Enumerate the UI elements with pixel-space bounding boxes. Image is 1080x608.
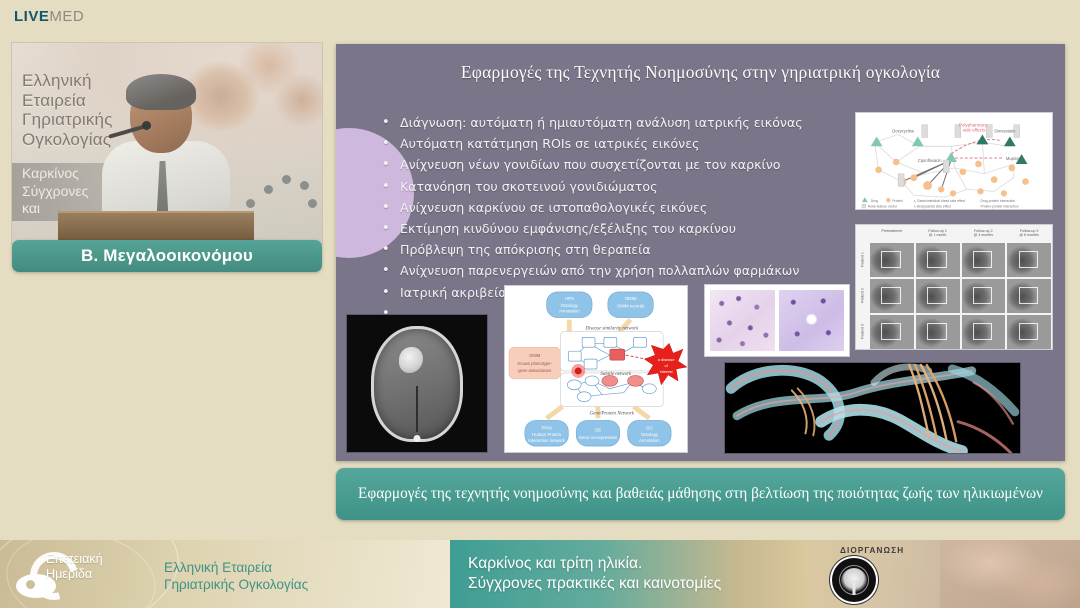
mri-marker-dot [414,435,421,442]
decorative-dots [242,169,318,217]
slide-title: Εφαρμογές της Τεχνητής Νοημοσύνης στην γ… [336,62,1065,83]
svg-text:PPIN: PPIN [542,425,552,430]
tractography-svg [725,363,1020,453]
histopathology-slide-a [710,290,775,351]
svg-text:r₁ Gastrointestinal bleed side: r₁ Gastrointestinal bleed side effect [914,199,965,203]
ct-scan-cell [1007,315,1051,349]
mri-midline-fissure [416,386,418,432]
ct-row-label-1: Patient 2 [856,278,869,314]
ct-scan-cell [962,279,1006,313]
list-item: Ανίχνευση παρενεργειών από την χρήση πολ… [374,260,874,281]
svg-text:Gene co-expression: Gene co-expression [579,435,618,440]
figure-histopathology [704,284,850,357]
figure-tractography [724,362,1021,454]
ct-scan-cell [870,243,914,277]
ct-scan-cell [870,279,914,313]
ct-row-label-2: Patient 3 [856,314,869,350]
screen: LIVEMED Ελληνική Εταιρεία Γηριατρικής Ογ… [0,0,1080,608]
svg-text:OMIM: OMIM [625,296,637,301]
figure-disease-gene-pipeline: HPOOntologyAnnotation OMIMOMIM records P… [504,285,688,453]
ct-col-3: Follow-up 3 @ 6 months [1006,225,1052,242]
ct-col-2: Follow-up 2 @ 3 months [961,225,1007,242]
histopathology-slide-b [779,290,844,351]
svg-text:Drug-protein interaction: Drug-protein interaction [980,199,1015,203]
histo-pair [705,285,849,356]
list-item: Ανίχνευση καρκίνου σε ιστοπαθολογικές ει… [374,197,874,218]
svg-text:Subtile network: Subtile network [600,372,632,377]
footer-hands-photo [940,540,1080,608]
figure-brain-mri [346,314,488,453]
svg-text:Ciprofloxacin: Ciprofloxacin [918,158,942,163]
svg-text:Disease similarity network: Disease similarity network [584,326,639,331]
logo-med-text: MED [49,8,84,25]
anniversary-text: Επετειακή Ημερίδα [46,552,103,583]
speaker-video-feed[interactable]: Ελληνική Εταιρεία Γηριατρικής Ογκολογίας… [12,43,322,244]
svg-text:Known phenotype-: Known phenotype- [518,361,553,366]
svg-text:Human Protein: Human Protein [532,432,561,437]
figure-drug-protein-network: Doxycycline Simvastatin Mupirocin Ciprof… [855,112,1053,210]
microphone-head [142,121,151,130]
svg-text:Protein: Protein [892,199,903,203]
ct-scan-cell [962,315,1006,349]
svg-text:Simvastatin: Simvastatin [994,129,1016,134]
speaker-name-text: Β. Μεγαλοοικονόμου [81,246,253,266]
mri-image [347,315,487,452]
list-item: Ανίχνευση νέων γονιδίων που συσχετίζοντα… [374,154,874,175]
speaker-name-banner: Β. Μεγαλοοικονόμου [12,240,322,272]
svg-text:Ontology: Ontology [641,432,659,437]
livemed-logo: LIVEMED [14,8,84,25]
svg-text:Node feature vector: Node feature vector [868,205,898,209]
svg-text:a disease: a disease [658,357,676,362]
speaker-hair [126,74,196,110]
list-item: Διάγνωση: αυτόματη ή ημιαυτόματη ανάλυση… [374,112,874,133]
svg-text:HPO: HPO [565,296,575,301]
svg-text:Interaction network: Interaction network [528,438,565,443]
svg-text:Mupirocin: Mupirocin [1006,156,1025,161]
svg-text:Ontology: Ontology [561,303,579,308]
list-item: Εκτίμηση κινδύνου εμφάνισης/εξέλιξης του… [374,218,874,239]
logo-dot [26,580,35,589]
footer-left-branding: Επετειακή Ημερίδα Ελληνική Εταιρεία Γηρι… [0,540,450,608]
ct-row-label-0: Patient 1 [856,242,869,278]
svg-text:gene associations: gene associations [518,368,551,373]
ct-scan-cell [1007,243,1051,277]
ct-scan-cell [916,243,960,277]
network-graph-svg: Doxycycline Simvastatin Mupirocin Ciprof… [856,113,1052,209]
footer-organizer-band: ΔΙΟΡΓΑΝΩΣΗ [806,540,1080,608]
svg-text:OMIM: OMIM [529,353,541,358]
list-item: Κατανόηση του σκοτεινού γονιδιώματος [374,176,874,197]
table-row: Patient 2 [856,278,1052,314]
svg-text:Doxycycline: Doxycycline [892,129,915,134]
ct-scan-cell [962,243,1006,277]
seal-tree-trunk [853,583,856,595]
society-name-text: Ελληνική Εταιρεία Γηριατρικής Ογκολογίας [164,560,308,594]
ct-scan-cell [870,315,914,349]
caption-text: Εφαρμογές της τεχνητής νοημοσύνης και βα… [358,484,1043,504]
ct-column-headers: Pretreatment Follow-up 1 @ 1 month Follo… [856,225,1052,242]
svg-text:side effects: side effects [963,128,986,133]
svg-text:Annotation: Annotation [559,309,580,314]
figure-ct-followup-grid: Pretreatment Follow-up 1 @ 1 month Follo… [855,224,1053,350]
top-bar: LIVEMED [0,0,1080,34]
svg-text:GO: GO [646,425,653,430]
event-title-text: Καρκίνος και τρίτη ηλικία. Σύγχρονες πρα… [468,554,721,595]
logo-live-text: LIVE [14,8,49,25]
ct-scan-cell [1007,279,1051,313]
ct-rows: Patient 1 Patient 2 Patient 3 [856,242,1052,350]
ct-corner-spacer [856,225,869,242]
list-item: Πρόβλεψη της απόκρισης στη θεραπεία [374,239,874,260]
ct-col-0: Pretreatment [869,225,915,242]
svg-text:OMIM records: OMIM records [617,304,644,309]
ct-scan-cell [916,315,960,349]
list-item: Αυτόματη κατάτμηση ROIs σε ιατρικές εικό… [374,133,874,154]
slide-caption-banner: Εφαρμογές της τεχνητής νοημοσύνης και βα… [336,468,1065,520]
table-row: Patient 1 [856,242,1052,278]
organizer-label: ΔΙΟΡΓΑΝΩΣΗ [840,546,904,555]
ct-col-1: Follow-up 1 @ 1 month [915,225,961,242]
footer-event-title-band: Καρκίνος και τρίτη ηλικία. Σύγχρονες πρα… [450,540,806,608]
svg-text:Protein-protein interaction: Protein-protein interaction [980,205,1018,209]
presentation-slide[interactable]: Εφαρμογές της Τεχνητής Νοημοσύνης στην γ… [336,44,1065,461]
svg-text:Gene/Protein Network: Gene/Protein Network [590,411,635,416]
pipeline-svg: HPOOntologyAnnotation OMIMOMIM records P… [505,286,687,452]
footer-bar: Επετειακή Ημερίδα Ελληνική Εταιρεία Γηρι… [0,540,1080,608]
svg-text:GE: GE [595,427,601,432]
svg-text:interest: interest [660,369,674,374]
organizer-seal-icon [830,556,878,604]
svg-text:Annotation: Annotation [639,438,660,443]
svg-text:r₂ Bradycardia side effect: r₂ Bradycardia side effect [914,205,951,209]
ct-scan-cell [916,279,960,313]
table-row: Patient 3 [856,314,1052,350]
svg-text:Drug: Drug [871,199,878,203]
